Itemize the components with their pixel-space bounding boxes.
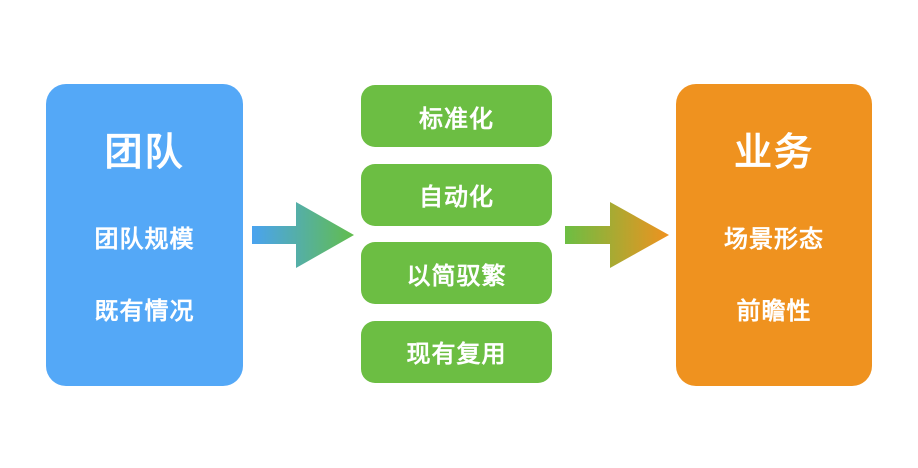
practice-card-label-2: 以简驭繁 xyxy=(407,256,507,291)
practice-card-label-3: 现有复用 xyxy=(407,334,507,369)
team-panel[interactable]: 团队 团队规模 既有情况 xyxy=(46,84,243,386)
business-panel-item-1: 前瞻性 xyxy=(737,300,812,324)
arrow-team-to-practice-icon xyxy=(252,200,354,270)
team-panel-item-0: 团队规模 xyxy=(95,228,195,252)
arrow-practice-to-business-icon xyxy=(565,200,669,270)
diagram-canvas: 团队 团队规模 既有情况 标准化 自动化 以简驭繁 现有复用 xyxy=(0,0,918,468)
business-panel[interactable]: 业务 场景形态 前瞻性 xyxy=(676,84,872,386)
practice-card-3[interactable]: 现有复用 xyxy=(361,321,552,383)
business-panel-title: 业务 xyxy=(734,134,814,172)
practice-stack: 标准化 自动化 以简驭繁 现有复用 xyxy=(361,85,552,383)
practice-card-1[interactable]: 自动化 xyxy=(361,164,552,226)
team-panel-item-1: 既有情况 xyxy=(95,300,195,324)
practice-card-2[interactable]: 以简驭繁 xyxy=(361,242,552,304)
practice-card-label-0: 标准化 xyxy=(419,99,494,134)
practice-card-0[interactable]: 标准化 xyxy=(361,85,552,147)
practice-card-label-1: 自动化 xyxy=(419,177,494,212)
business-panel-item-0: 场景形态 xyxy=(724,228,824,252)
team-panel-title: 团队 xyxy=(104,134,184,172)
